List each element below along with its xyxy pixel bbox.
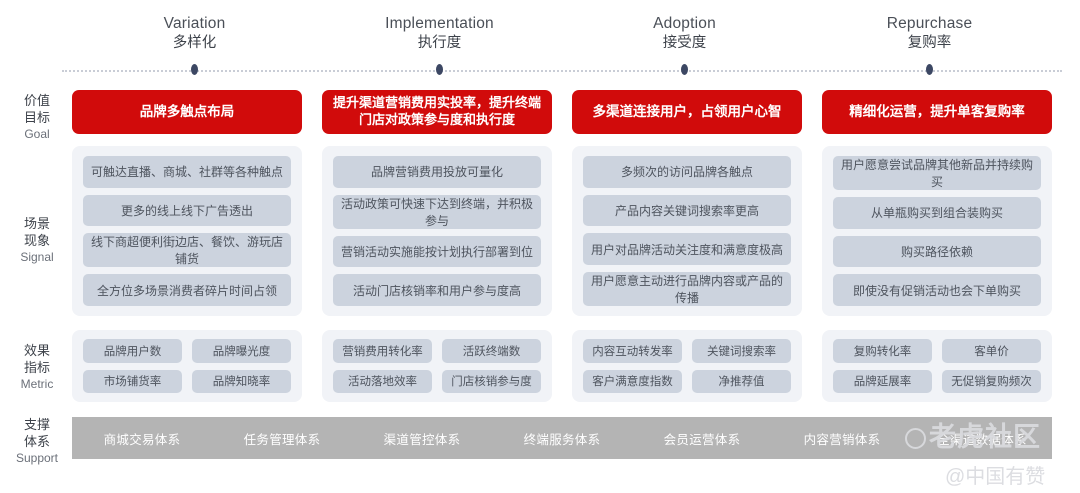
signal-chip[interactable]: 多频次的访问品牌各触点 xyxy=(583,156,791,188)
metric-chip[interactable]: 客单价 xyxy=(942,339,1041,363)
metric-chip[interactable]: 净推荐值 xyxy=(692,370,791,394)
timeline-dot-repurchase xyxy=(926,64,933,75)
signal-panel: 用户愿意尝试品牌其他新品并持续购买 从单瓶购买到组合装购买 购买路径依赖 即使没… xyxy=(822,146,1052,316)
signal-panel: 品牌营销费用投放可量化 活动政策可快速下达到终端，并积极参与 营销活动实施能按计… xyxy=(322,146,552,316)
metric-panel: 内容互动转发率 关键词搜索率 客户满意度指数 净推荐值 xyxy=(572,330,802,402)
row-label-en: Support xyxy=(6,451,68,466)
signal-chip[interactable]: 活动门店核销率和用户参与度高 xyxy=(333,274,541,306)
metric-chip[interactable]: 营销费用转化率 xyxy=(333,339,432,363)
signal-chip[interactable]: 用户愿意尝试品牌其他新品并持续购买 xyxy=(833,156,1041,190)
metric-chip[interactable]: 客户满意度指数 xyxy=(583,370,682,394)
row-label-en: Goal xyxy=(6,127,68,142)
column-title-cn: 接受度 xyxy=(562,34,807,53)
signal-cell-adoption: 多频次的访问品牌各触点 产品内容关键词搜索率更高 用户对品牌活动关注度和满意度极… xyxy=(572,146,802,316)
signal-row: 可触达直播、商城、社群等各种触点 更多的线上线下广告透出 线下商超便利街边店、餐… xyxy=(72,146,1052,316)
signal-chip[interactable]: 用户愿意主动进行品牌内容或产品的传播 xyxy=(583,272,791,306)
metric-chip[interactable]: 内容互动转发率 xyxy=(583,339,682,363)
row-label-cn-2: 体系 xyxy=(6,434,68,451)
signal-cell-repurchase: 用户愿意尝试品牌其他新品并持续购买 从单瓶购买到组合装购买 购买路径依赖 即使没… xyxy=(822,146,1052,316)
support-item[interactable]: 会员运营体系 xyxy=(632,429,772,448)
row-label-signal: 场景 现象 Signal xyxy=(6,216,68,266)
metric-panel: 复购转化率 客单价 品牌延展率 无促销复购频次 xyxy=(822,330,1052,402)
row-label-support: 支撑 体系 Support xyxy=(6,417,68,467)
row-label-cn-1: 支撑 xyxy=(6,417,68,434)
metric-chip[interactable]: 活跃终端数 xyxy=(442,339,541,363)
signal-cell-implementation: 品牌营销费用投放可量化 活动政策可快速下达到终端，并积极参与 营销活动实施能按计… xyxy=(322,146,552,316)
row-label-metric: 效果 指标 Metric xyxy=(6,343,68,393)
row-label-en: Signal xyxy=(6,250,68,265)
signal-chip[interactable]: 可触达直播、商城、社群等各种触点 xyxy=(83,156,291,188)
metric-chip[interactable]: 品牌知晓率 xyxy=(192,370,291,394)
column-header-implementation: Implementation 执行度 xyxy=(317,14,562,62)
goal-row: 品牌多触点布局 提升渠道营销费用实投率，提升终端门店对政策参与度和执行度 多渠道… xyxy=(72,90,1052,134)
metric-cell-repurchase: 复购转化率 客单价 品牌延展率 无促销复购频次 xyxy=(822,330,1052,402)
support-item[interactable]: 任务管理体系 xyxy=(212,429,352,448)
timeline-dots xyxy=(72,64,1052,78)
support-item[interactable]: 内容营销体系 xyxy=(772,429,912,448)
signal-cell-variation: 可触达直播、商城、社群等各种触点 更多的线上线下广告透出 线下商超便利街边店、餐… xyxy=(72,146,302,316)
column-title-en: Adoption xyxy=(562,14,807,34)
metric-chip[interactable]: 门店核销参与度 xyxy=(442,370,541,394)
row-label-cn-2: 现象 xyxy=(6,233,68,250)
column-header-adoption: Adoption 接受度 xyxy=(562,14,807,62)
column-title-en: Variation xyxy=(72,14,317,34)
metric-chip[interactable]: 品牌用户数 xyxy=(83,339,182,363)
column-title-cn: 多样化 xyxy=(72,34,317,53)
metric-chip[interactable]: 品牌曝光度 xyxy=(192,339,291,363)
support-item[interactable]: 商城交易体系 xyxy=(72,429,212,448)
signal-chip[interactable]: 线下商超便利街边店、餐饮、游玩店铺货 xyxy=(83,233,291,267)
support-item[interactable]: 渠道管控体系 xyxy=(352,429,492,448)
column-title-en: Implementation xyxy=(317,14,562,34)
timeline-dot-adoption xyxy=(681,64,688,75)
goal-box[interactable]: 品牌多触点布局 xyxy=(72,90,302,134)
metric-chip[interactable]: 活动落地效率 xyxy=(333,370,432,394)
row-label-cn-1: 价值 xyxy=(6,93,68,110)
column-header-variation: Variation 多样化 xyxy=(72,14,317,62)
row-label-en: Metric xyxy=(6,377,68,392)
goal-cell-repurchase: 精细化运营，提升单客复购率 xyxy=(822,90,1052,134)
signal-panel: 可触达直播、商城、社群等各种触点 更多的线上线下广告透出 线下商超便利街边店、餐… xyxy=(72,146,302,316)
signal-chip[interactable]: 用户对品牌活动关注度和满意度极高 xyxy=(583,233,791,265)
signal-chip[interactable]: 产品内容关键词搜索率更高 xyxy=(583,195,791,227)
signal-chip[interactable]: 全方位多场景消费者碎片时间占领 xyxy=(83,274,291,306)
row-label-cn-1: 场景 xyxy=(6,216,68,233)
metric-panel: 营销费用转化率 活跃终端数 活动落地效率 门店核销参与度 xyxy=(322,330,552,402)
signal-chip[interactable]: 即使没有促销活动也会下单购买 xyxy=(833,274,1041,306)
metric-panel: 品牌用户数 品牌曝光度 市场铺货率 品牌知晓率 xyxy=(72,330,302,402)
support-item[interactable]: 全渠道数据体系 xyxy=(912,429,1052,448)
metric-cell-implementation: 营销费用转化率 活跃终端数 活动落地效率 门店核销参与度 xyxy=(322,330,552,402)
timeline-dot-implementation xyxy=(436,64,443,75)
metric-chip[interactable]: 关键词搜索率 xyxy=(692,339,791,363)
metric-chip[interactable]: 品牌延展率 xyxy=(833,370,932,394)
row-label-cn-1: 效果 xyxy=(6,343,68,360)
column-title-cn: 复购率 xyxy=(807,34,1052,53)
metric-chip[interactable]: 无促销复购频次 xyxy=(942,370,1041,394)
goal-box[interactable]: 提升渠道营销费用实投率，提升终端门店对政策参与度和执行度 xyxy=(322,90,552,134)
column-header-repurchase: Repurchase 复购率 xyxy=(807,14,1052,62)
signal-chip[interactable]: 品牌营销费用投放可量化 xyxy=(333,156,541,188)
strategy-framework-board: Variation 多样化 Implementation 执行度 Adoptio… xyxy=(0,0,1080,493)
signal-panel: 多频次的访问品牌各触点 产品内容关键词搜索率更高 用户对品牌活动关注度和满意度极… xyxy=(572,146,802,316)
signal-chip[interactable]: 从单瓶购买到组合装购买 xyxy=(833,197,1041,229)
column-headers: Variation 多样化 Implementation 执行度 Adoptio… xyxy=(72,14,1052,62)
signal-chip[interactable]: 营销活动实施能按计划执行部署到位 xyxy=(333,236,541,268)
goal-box[interactable]: 多渠道连接用户，占领用户心智 xyxy=(572,90,802,134)
metric-cell-adoption: 内容互动转发率 关键词搜索率 客户满意度指数 净推荐值 xyxy=(572,330,802,402)
row-label-cn-2: 目标 xyxy=(6,110,68,127)
goal-cell-implementation: 提升渠道营销费用实投率，提升终端门店对政策参与度和执行度 xyxy=(322,90,552,134)
column-title-cn: 执行度 xyxy=(317,34,562,53)
signal-chip[interactable]: 活动政策可快速下达到终端，并积极参与 xyxy=(333,195,541,229)
column-title-en: Repurchase xyxy=(807,14,1052,34)
metric-row: 品牌用户数 品牌曝光度 市场铺货率 品牌知晓率 营销费用转化率 活跃终端数 活动… xyxy=(72,330,1052,402)
goal-cell-variation: 品牌多触点布局 xyxy=(72,90,302,134)
goal-box[interactable]: 精细化运营，提升单客复购率 xyxy=(822,90,1052,134)
signal-chip[interactable]: 购买路径依赖 xyxy=(833,236,1041,268)
goal-cell-adoption: 多渠道连接用户，占领用户心智 xyxy=(572,90,802,134)
row-label-goal: 价值 目标 Goal xyxy=(6,93,68,143)
watermark-handle: @中国有赞 xyxy=(945,460,1045,489)
support-row: 商城交易体系 任务管理体系 渠道管控体系 终端服务体系 会员运营体系 内容营销体… xyxy=(72,417,1052,459)
timeline-dot-variation xyxy=(191,64,198,75)
metric-cell-variation: 品牌用户数 品牌曝光度 市场铺货率 品牌知晓率 xyxy=(72,330,302,402)
metric-chip[interactable]: 市场铺货率 xyxy=(83,370,182,394)
signal-chip[interactable]: 更多的线上线下广告透出 xyxy=(83,195,291,227)
metric-chip[interactable]: 复购转化率 xyxy=(833,339,932,363)
row-label-cn-2: 指标 xyxy=(6,360,68,377)
support-item[interactable]: 终端服务体系 xyxy=(492,429,632,448)
